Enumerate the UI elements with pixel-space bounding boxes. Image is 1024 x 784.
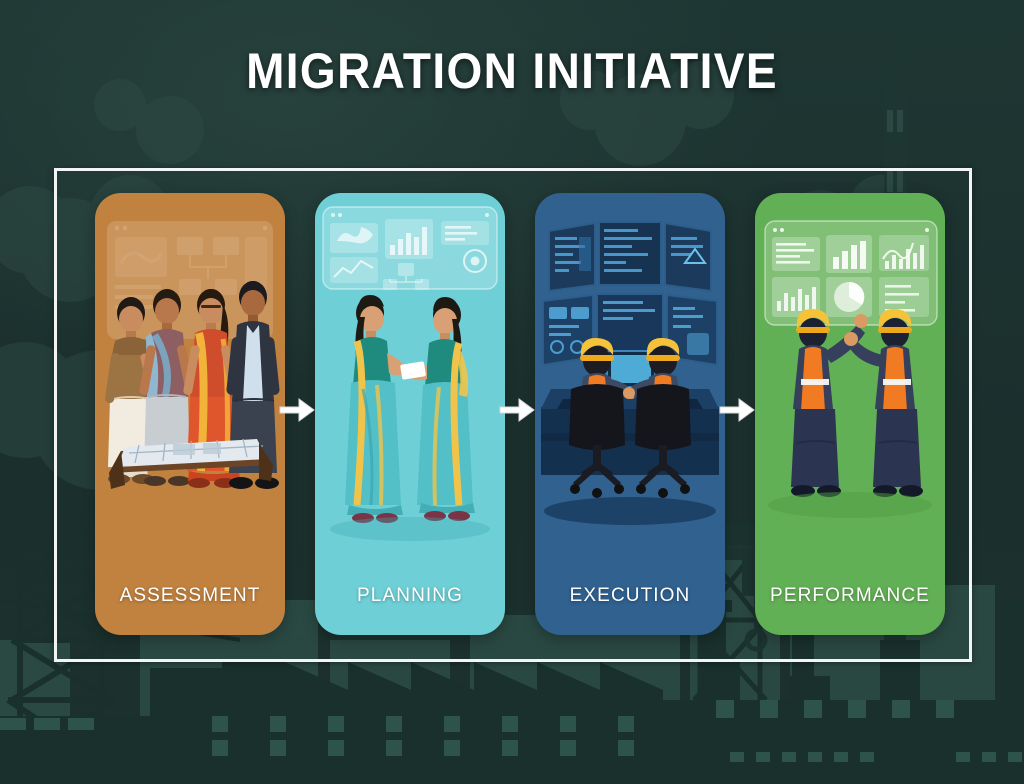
stage-label-planning: PLANNING xyxy=(315,585,505,607)
stage-card-planning[interactable]: PLANNING xyxy=(315,193,505,635)
illustration-execution xyxy=(535,193,725,563)
stage-card-performance[interactable]: PERFORMANCE xyxy=(755,193,945,635)
arrow-right-icon-execution-performance xyxy=(717,394,757,426)
illustration-planning xyxy=(315,193,505,563)
illustration-assessment xyxy=(95,193,285,563)
arrow-right-icon-planning-execution xyxy=(497,394,537,426)
monitor-wall-upper xyxy=(549,222,711,291)
illustration-performance xyxy=(755,193,945,563)
infographic-canvas: MIGRATION INITIATIVE xyxy=(0,0,1024,784)
control-desk xyxy=(541,389,719,475)
arrow-right-icon-assessment-planning xyxy=(277,394,317,426)
hologram-dashboard xyxy=(323,207,497,290)
figure-woman-right xyxy=(400,297,475,521)
stage-card-assessment[interactable]: ASSESSMENT xyxy=(95,193,285,635)
stage-label-assessment: ASSESSMENT xyxy=(95,585,285,607)
stage-label-performance: PERFORMANCE xyxy=(755,585,945,607)
figure-woman-left xyxy=(345,295,411,523)
worker-right-pointing xyxy=(844,309,923,497)
page-title: MIGRATION INITIATIVE xyxy=(41,42,983,100)
stage-label-execution: EXECUTION xyxy=(535,585,725,607)
stage-card-execution[interactable]: EXECUTION xyxy=(535,193,725,635)
performance-dashboard xyxy=(765,221,937,325)
